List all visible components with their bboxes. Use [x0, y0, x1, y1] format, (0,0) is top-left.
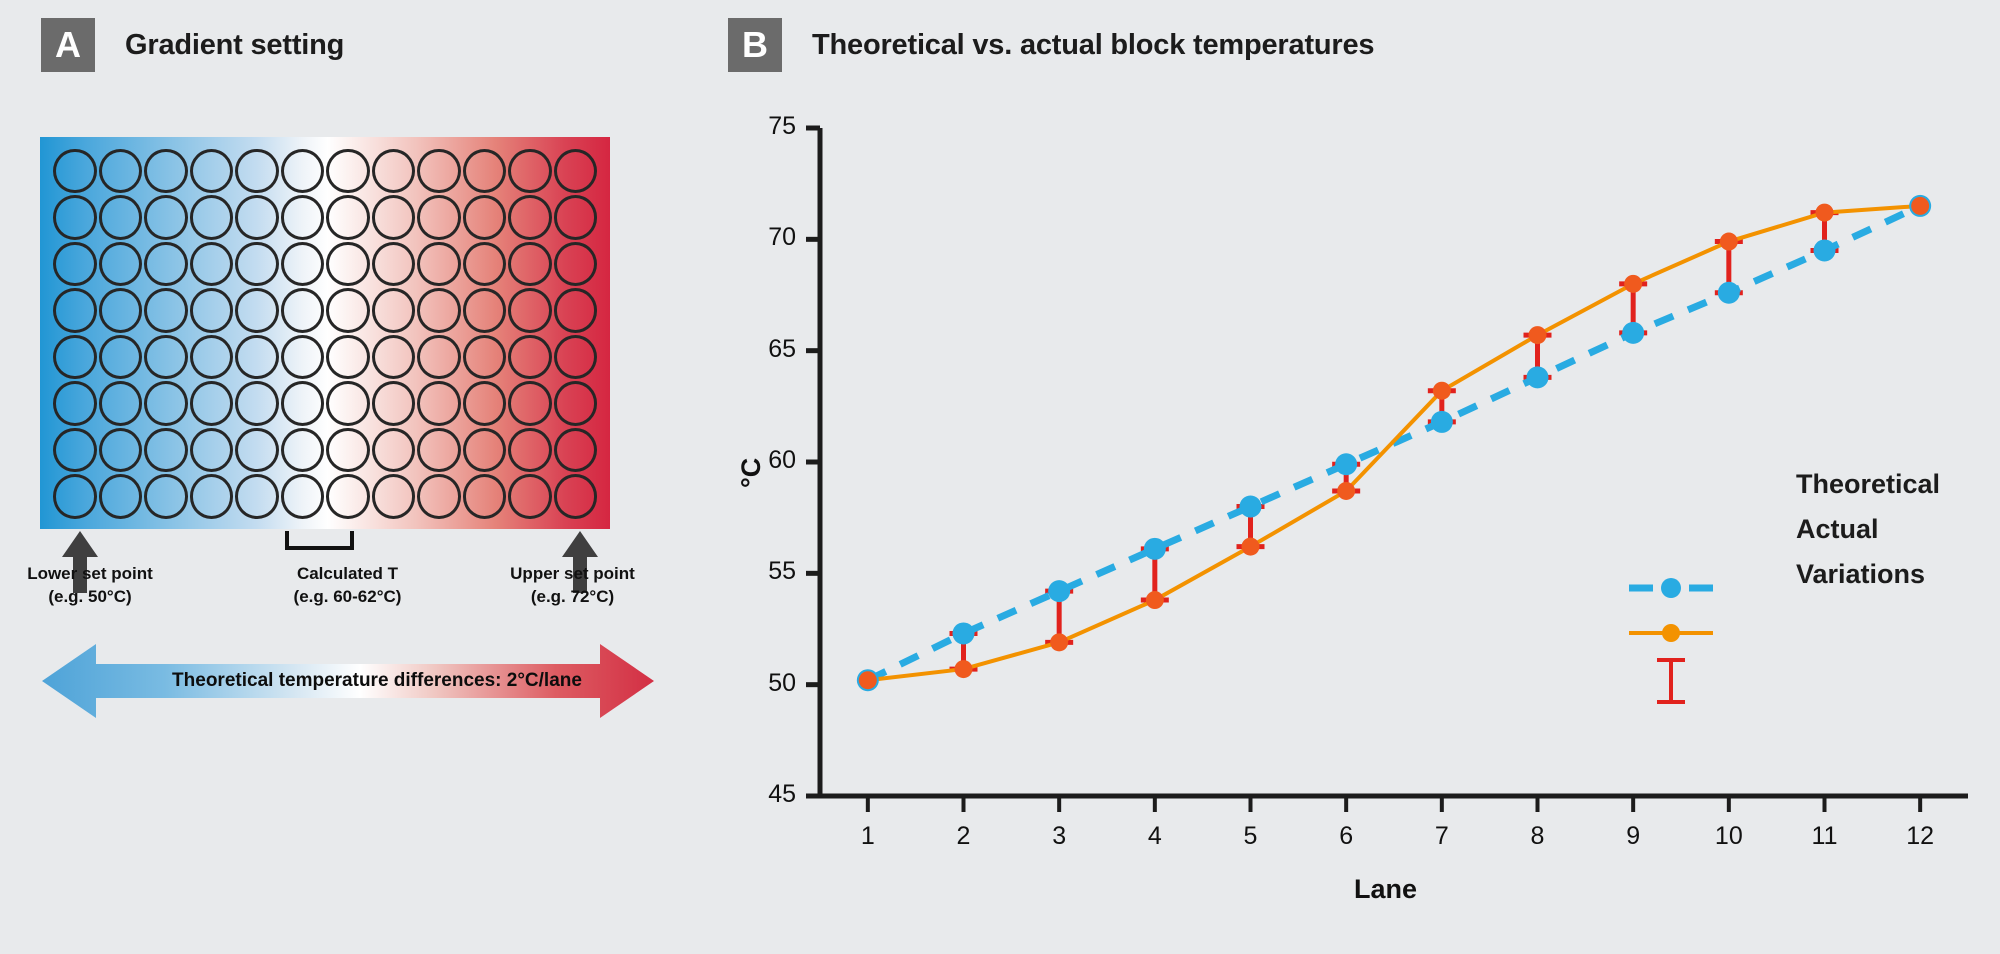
- x-axis-label: Lane: [1354, 874, 1417, 905]
- actual-data-point: [1816, 204, 1834, 222]
- plate-well: [372, 149, 416, 194]
- plate-well: [326, 195, 370, 240]
- plate-well: [326, 288, 370, 333]
- plate-well: [281, 428, 325, 473]
- plate-well: [190, 335, 234, 380]
- plate-well: [417, 428, 461, 473]
- plate-well: [508, 149, 552, 194]
- plate-well: [99, 149, 143, 194]
- plate-well: [372, 335, 416, 380]
- plate-well: [463, 381, 507, 426]
- x-axis-tick-label: 10: [1706, 822, 1752, 851]
- plate-well: [190, 381, 234, 426]
- y-axis-tick-label: 60: [742, 446, 796, 475]
- actual-data-point: [955, 660, 973, 678]
- plate-well: [99, 195, 143, 240]
- panel-a-header: A Gradient setting: [41, 18, 344, 72]
- theoretical-data-point: [1144, 538, 1166, 560]
- calculated-t-value: (e.g. 60-62°C): [255, 586, 440, 609]
- plate-well: [508, 288, 552, 333]
- plate-well: [554, 149, 598, 194]
- plate-well: [417, 381, 461, 426]
- plate-well: [281, 474, 325, 519]
- plate-well: [144, 428, 188, 473]
- plate-well: [190, 474, 234, 519]
- theoretical-data-point: [1335, 453, 1357, 475]
- plate-well: [281, 242, 325, 287]
- theoretical-data-point: [1527, 366, 1549, 388]
- plate-well: [281, 195, 325, 240]
- panel-a-title: Gradient setting: [125, 29, 344, 62]
- panel-a-badge: A: [41, 18, 95, 72]
- plate-well: [235, 149, 279, 194]
- actual-data-point: [1050, 633, 1068, 651]
- plate-well: [53, 195, 97, 240]
- figure-root: A Gradient setting B Theoretical vs. act…: [0, 0, 2000, 954]
- theoretical-data-point: [953, 622, 975, 644]
- plate-well: [372, 195, 416, 240]
- plate-well: [326, 149, 370, 194]
- plate-well: [417, 474, 461, 519]
- plate-well: [144, 381, 188, 426]
- plate-well: [53, 288, 97, 333]
- plate-well: [190, 149, 234, 194]
- plate-well: [508, 335, 552, 380]
- plate-well: [554, 288, 598, 333]
- plate-well: [99, 474, 143, 519]
- x-axis-tick-label: 2: [941, 822, 987, 851]
- theoretical-data-point: [1048, 580, 1070, 602]
- plate-well: [463, 149, 507, 194]
- plate-well: [372, 242, 416, 287]
- x-axis-tick-label: 8: [1515, 822, 1561, 851]
- plate-well: [235, 288, 279, 333]
- plate-well: [554, 335, 598, 380]
- chart-legend-marks: [1623, 566, 1883, 746]
- legend-label-actual: Actual: [1796, 514, 1879, 545]
- y-axis-tick-label: 75: [742, 112, 796, 141]
- plate-well: [372, 474, 416, 519]
- calculated-t-label: Calculated T (e.g. 60-62°C): [255, 563, 440, 609]
- actual-data-point: [1433, 382, 1451, 400]
- plate-well: [53, 381, 97, 426]
- actual-data-point: [1911, 197, 1929, 215]
- theoretical-data-point: [1622, 322, 1644, 344]
- y-axis-tick-label: 55: [742, 557, 796, 586]
- plate-well: [417, 242, 461, 287]
- lower-set-point-value: (e.g. 50°C): [0, 586, 180, 609]
- x-axis-tick-label: 12: [1897, 822, 1943, 851]
- x-axis-tick-label: 1: [845, 822, 891, 851]
- plate-well: [99, 242, 143, 287]
- lower-set-point-label: Lower set point (e.g. 50°C): [0, 563, 180, 609]
- plate-well: [372, 428, 416, 473]
- legend-label-variations: Variations: [1796, 559, 1925, 590]
- plate-well: [144, 474, 188, 519]
- plate-well: [144, 195, 188, 240]
- temperature-chart: °C Lane Theoretical Actual Variations 45…: [728, 96, 1978, 906]
- plate-well: [554, 242, 598, 287]
- plate-well: [53, 428, 97, 473]
- actual-data-point: [859, 671, 877, 689]
- plate-well: [99, 428, 143, 473]
- plate-well: [508, 195, 552, 240]
- y-axis-tick-label: 50: [742, 669, 796, 698]
- plate-well: [463, 288, 507, 333]
- theoretical-data-point: [1718, 282, 1740, 304]
- x-axis-tick-label: 9: [1610, 822, 1656, 851]
- plate-well: [99, 335, 143, 380]
- plate-well: [99, 288, 143, 333]
- plate-well: [463, 474, 507, 519]
- panel-b-badge: B: [728, 18, 782, 72]
- plate-well: [99, 381, 143, 426]
- theoretical-data-point: [1240, 496, 1262, 518]
- plate-well: [554, 428, 598, 473]
- actual-data-point: [1337, 482, 1355, 500]
- plate-well: [53, 474, 97, 519]
- plate-well: [417, 149, 461, 194]
- plate-well: [508, 381, 552, 426]
- upper-set-point-value: (e.g. 72°C): [480, 586, 665, 609]
- plate-well: [235, 474, 279, 519]
- actual-data-point: [1720, 233, 1738, 251]
- plate-well: [144, 335, 188, 380]
- panel-b-title: Theoretical vs. actual block temperature…: [812, 29, 1374, 62]
- plate-well: [190, 242, 234, 287]
- lower-set-point-title: Lower set point: [0, 563, 180, 586]
- plate-well: [53, 335, 97, 380]
- plate-well: [281, 335, 325, 380]
- panel-b-header: B Theoretical vs. actual block temperatu…: [728, 18, 1374, 72]
- actual-data-point: [1529, 326, 1547, 344]
- plate-well: [144, 242, 188, 287]
- plate-well: [463, 335, 507, 380]
- calculated-t-bracket: [285, 531, 354, 550]
- plate-well: [463, 428, 507, 473]
- plate-well: [53, 242, 97, 287]
- plate-well: [190, 428, 234, 473]
- plate-well: [235, 335, 279, 380]
- plate-well: [463, 242, 507, 287]
- y-axis-tick-label: 65: [742, 335, 796, 364]
- theoretical-data-point: [1431, 411, 1453, 433]
- plate-well: [417, 335, 461, 380]
- banner-text: Theoretical temperature differences: 2°C…: [42, 642, 654, 720]
- actual-data-point: [1242, 538, 1260, 556]
- upper-set-point-label: Upper set point (e.g. 72°C): [480, 563, 665, 609]
- plate-well: [326, 335, 370, 380]
- plate-well: [372, 288, 416, 333]
- plate-well: [326, 242, 370, 287]
- legend-label-theoretical: Theoretical: [1796, 469, 1940, 500]
- plate-well: [554, 474, 598, 519]
- plate-well: [281, 381, 325, 426]
- plate-well: [190, 195, 234, 240]
- x-axis-tick-label: 11: [1802, 822, 1848, 851]
- plate-well: [281, 288, 325, 333]
- upper-set-point-title: Upper set point: [480, 563, 665, 586]
- actual-data-point: [1146, 591, 1164, 609]
- gradient-plate: [40, 137, 610, 529]
- chart-plot-area: [728, 96, 1978, 906]
- plate-well: [326, 428, 370, 473]
- plate-well: [235, 381, 279, 426]
- plate-well: [235, 428, 279, 473]
- actual-data-point: [1624, 275, 1642, 293]
- plate-well: [144, 288, 188, 333]
- plate-well: [508, 474, 552, 519]
- plate-well: [235, 195, 279, 240]
- plate-well: [235, 242, 279, 287]
- plate-well: [281, 149, 325, 194]
- x-axis-tick-label: 4: [1132, 822, 1178, 851]
- plate-well: [53, 149, 97, 194]
- plate-well: [463, 195, 507, 240]
- plate-well: [326, 381, 370, 426]
- plate-well: [144, 149, 188, 194]
- x-axis-tick-label: 5: [1228, 822, 1274, 851]
- plate-well: [417, 288, 461, 333]
- theoretical-data-point: [1814, 239, 1836, 261]
- calculated-t-title: Calculated T: [255, 563, 440, 586]
- x-axis-tick-label: 3: [1036, 822, 1082, 851]
- y-axis-tick-label: 70: [742, 223, 796, 252]
- plate-well: [417, 195, 461, 240]
- plate-well: [554, 381, 598, 426]
- plate-well: [508, 428, 552, 473]
- plate-well: [554, 195, 598, 240]
- y-axis-tick-label: 45: [742, 780, 796, 809]
- x-axis-tick-label: 7: [1419, 822, 1465, 851]
- x-axis-tick-label: 6: [1323, 822, 1369, 851]
- plate-well: [190, 288, 234, 333]
- plate-well: [372, 381, 416, 426]
- plate-well: [508, 242, 552, 287]
- plate-well: [326, 474, 370, 519]
